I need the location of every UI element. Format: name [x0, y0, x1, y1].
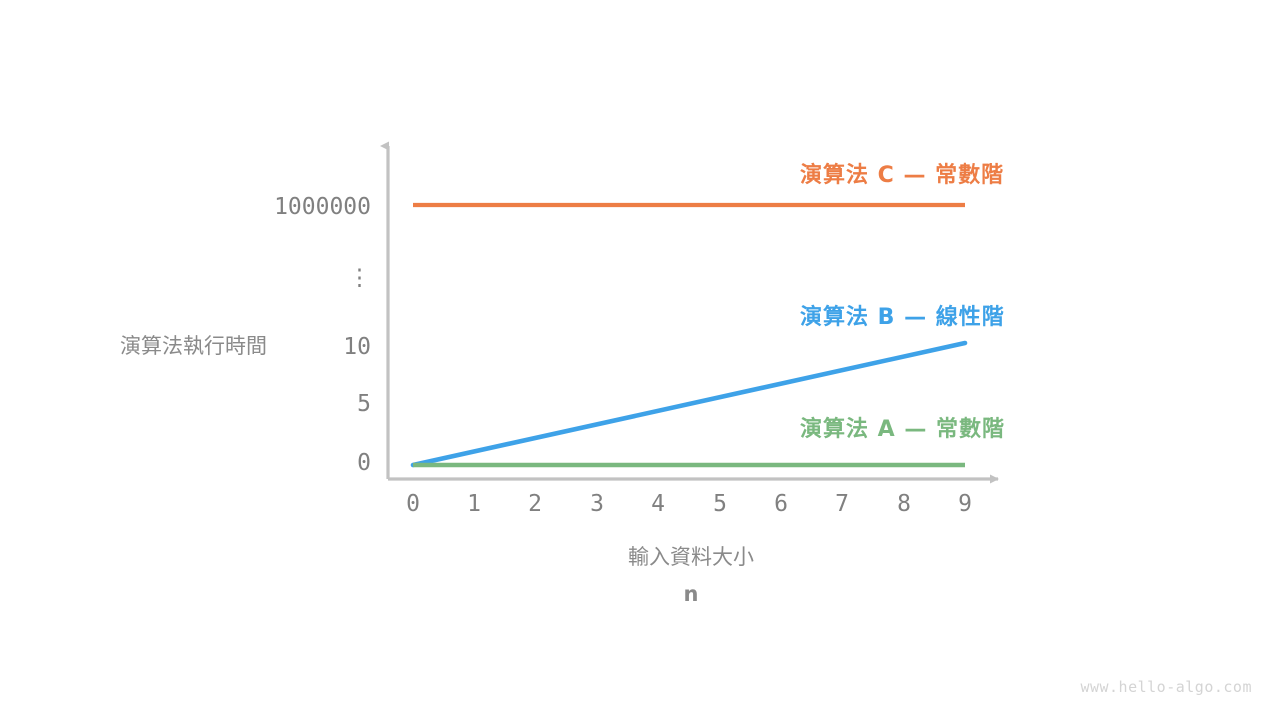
chart-canvas — [0, 0, 1280, 720]
y-tick-label-0: 0 — [231, 452, 371, 475]
x-tick-label-5: 5 — [700, 493, 740, 516]
series-line-b — [413, 343, 965, 465]
y-tick-label-5: 5 — [231, 393, 371, 416]
y-tick-label-1000000: 1000000 — [231, 196, 371, 219]
legend-series-b: 演算法 B — 線性階 — [800, 299, 1005, 331]
x-tick-label-9: 9 — [945, 493, 985, 516]
x-tick-label-6: 6 — [761, 493, 801, 516]
legend-series-a: 演算法 A — 常數階 — [800, 411, 1005, 443]
x-tick-label-1: 1 — [454, 493, 494, 516]
time-complexity-figure: 1000000 ⋮ 10 5 0 演算法執行時間 0 1 2 3 4 5 6 7… — [0, 0, 1280, 720]
y-tick-ellipsis: ⋮ — [231, 267, 371, 290]
x-tick-label-4: 4 — [638, 493, 678, 516]
y-axis-title: 演算法執行時間 — [120, 336, 267, 357]
site-watermark: www.hello-algo.com — [1080, 678, 1252, 696]
x-tick-label-7: 7 — [822, 493, 862, 516]
x-axis-title-variable: n — [591, 584, 791, 605]
x-tick-label-2: 2 — [515, 493, 555, 516]
x-axis-title: 輸入資料大小 — [591, 547, 791, 568]
x-tick-label-3: 3 — [577, 493, 617, 516]
x-tick-label-0: 0 — [393, 493, 433, 516]
legend-series-c: 演算法 C — 常數階 — [800, 157, 1004, 189]
x-tick-label-8: 8 — [884, 493, 924, 516]
